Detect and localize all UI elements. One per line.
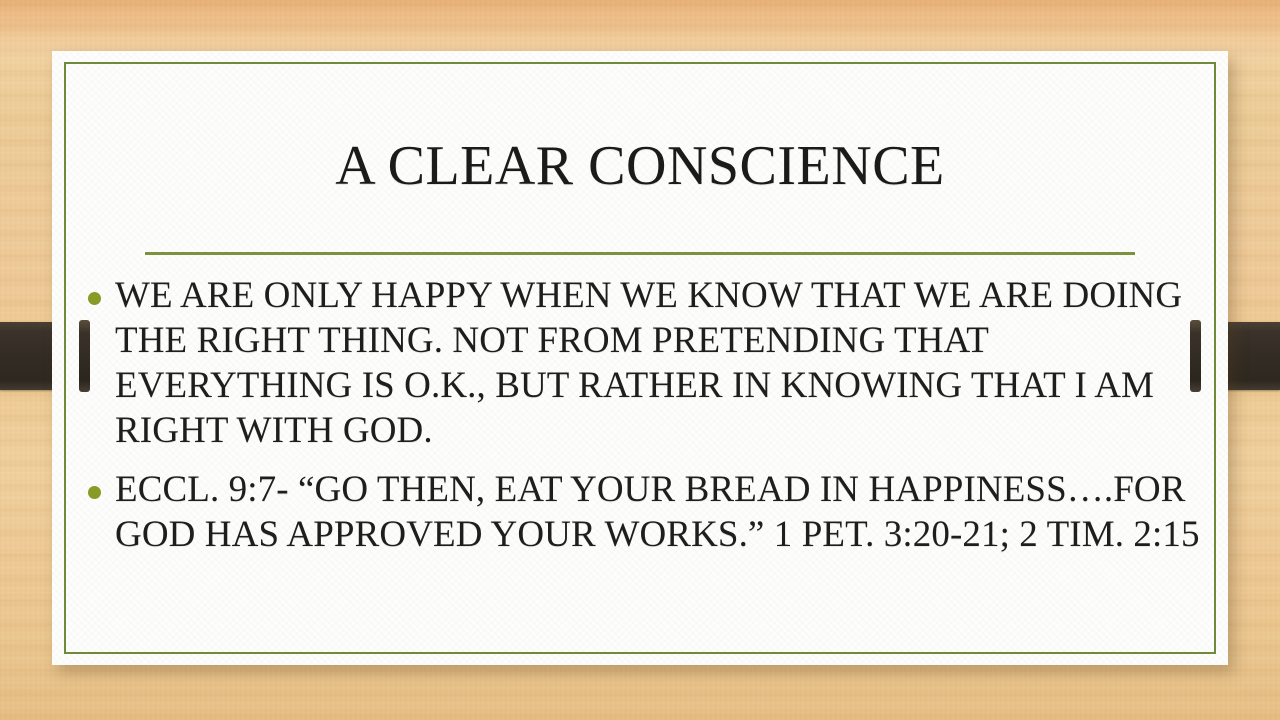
left-strap-cap bbox=[79, 320, 90, 392]
page-title: A CLEAR CONSCIENCE bbox=[52, 137, 1228, 196]
presentation-slide: A CLEAR CONSCIENCE WE ARE ONLY HAPPY WHE… bbox=[0, 0, 1280, 720]
bullet-dot-icon bbox=[88, 486, 101, 499]
bullet-list: WE ARE ONLY HAPPY WHEN WE KNOW THAT WE A… bbox=[88, 273, 1200, 571]
right-strap-cap bbox=[1190, 320, 1201, 392]
slide-content: A CLEAR CONSCIENCE WE ARE ONLY HAPPY WHE… bbox=[52, 51, 1228, 665]
list-item: WE ARE ONLY HAPPY WHEN WE KNOW THAT WE A… bbox=[88, 273, 1200, 453]
bullet-dot-icon bbox=[88, 292, 101, 305]
bullet-text: ECCL. 9:7- “GO THEN, EAT YOUR BREAD IN H… bbox=[115, 467, 1200, 557]
title-divider-rule bbox=[145, 252, 1135, 255]
list-item: ECCL. 9:7- “GO THEN, EAT YOUR BREAD IN H… bbox=[88, 467, 1200, 557]
bullet-text: WE ARE ONLY HAPPY WHEN WE KNOW THAT WE A… bbox=[115, 273, 1200, 453]
slide-card: A CLEAR CONSCIENCE WE ARE ONLY HAPPY WHE… bbox=[52, 51, 1228, 665]
